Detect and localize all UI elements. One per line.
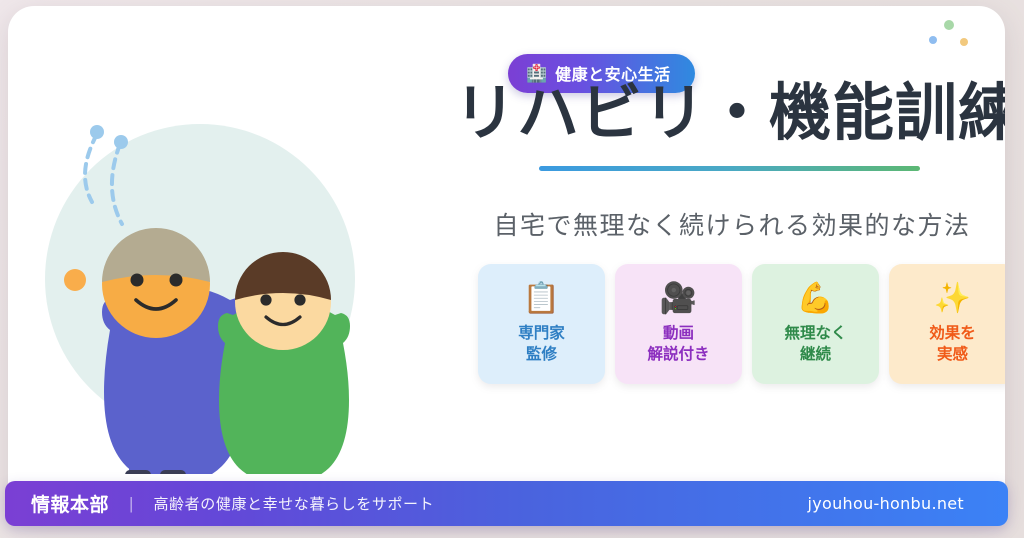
footer-brand-name: 情報本部 [31, 490, 109, 517]
hero-content: 🏥 健康と安心生活 リハビリ・機能訓練 自宅で無理なく続けられる効果的な方法 📋… [454, 22, 1005, 442]
feature-card-list: 📋 専門家 監修 🎥 動画 解説付き 💪 無理な [478, 264, 1005, 384]
feature-label-line2: 継続 [784, 344, 846, 365]
hero-banner: 🏥 健康と安心生活 リハビリ・機能訓練 自宅で無理なく続けられる効果的な方法 📋… [0, 0, 1024, 538]
white-card-surface: 🏥 健康と安心生活 リハビリ・機能訓練 自宅で無理なく続けられる効果的な方法 📋… [8, 6, 1005, 518]
footer-separator: | [129, 494, 133, 514]
two-seniors-illustration [30, 114, 380, 474]
feature-label-line1: 無理なく [784, 323, 846, 344]
feature-card-expert-supervision[interactable]: 📋 専門家 監修 [478, 264, 605, 384]
footer-website-url[interactable]: jyouhou-honbu.net [808, 494, 965, 513]
footer-bar: 情報本部 | 高齢者の健康と幸せな暮らしをサポート jyouhou-honbu.… [5, 481, 1008, 526]
feature-label-line2: 解説付き [647, 344, 709, 365]
movie-camera-icon: 🎥 [660, 284, 697, 314]
feature-label-line1: 専門家 [518, 323, 565, 344]
title-underline-rule [539, 166, 920, 171]
feature-label-line2: 実感 [929, 344, 976, 365]
sparkles-icon: ✨ [934, 284, 971, 314]
feature-label-line1: 動画 [647, 323, 709, 344]
feature-card-video-explanation[interactable]: 🎥 動画 解説付き [615, 264, 742, 384]
feature-label-line1: 効果を [929, 323, 976, 344]
page-title: リハビリ・機能訓練 [454, 80, 1005, 145]
page-subtitle: 自宅で無理なく続けられる効果的な方法 [454, 206, 1005, 242]
feature-card-sustainable[interactable]: 💪 無理なく 継続 [752, 264, 879, 384]
feature-card-results[interactable]: ✨ 効果を 実感 [889, 264, 1005, 384]
clipboard-icon: 📋 [523, 284, 560, 314]
flexed-biceps-icon: 💪 [797, 284, 834, 314]
footer-tagline: 高齢者の健康と幸せな暮らしをサポート [153, 493, 434, 514]
feature-label-line2: 監修 [518, 344, 565, 365]
